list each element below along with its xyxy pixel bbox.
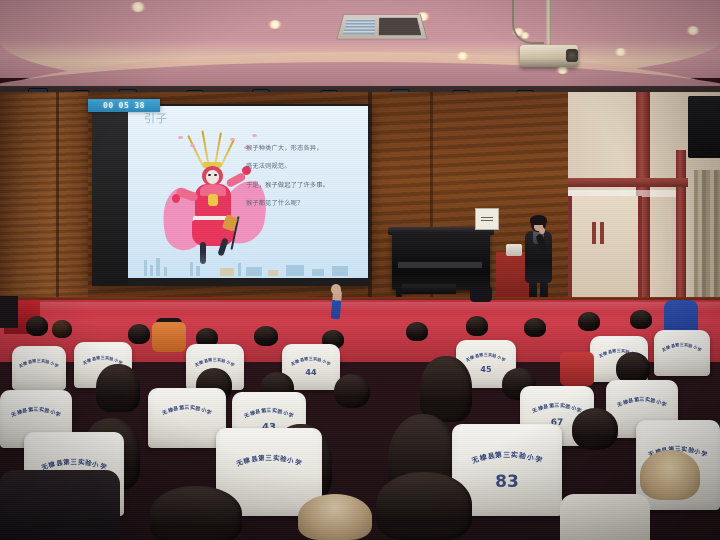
seat-number: 44 (305, 368, 316, 377)
student-head (524, 318, 546, 337)
petal (252, 134, 257, 137)
seat-school-name: 无棣县第三实验小学 (617, 396, 667, 403)
timer-hours: 00 (103, 101, 114, 110)
seat-back: 无棣县第三实验小学 (654, 330, 710, 376)
student-head (578, 312, 600, 331)
timer-minutes: 05 (119, 101, 130, 110)
seat-school-name: 无棣县第三实验小学 (83, 355, 123, 361)
slide-skyline-decoration (128, 252, 368, 278)
student-head (96, 364, 140, 412)
student-orange-coat (152, 322, 186, 352)
skyline-shape (164, 267, 167, 276)
seat-back: 无棣县第三实验小学 (12, 346, 66, 390)
side-door[interactable] (566, 196, 642, 306)
fur-hood-coat (298, 494, 372, 540)
seat-school-name: 无棣县第三实验小学 (19, 358, 59, 364)
fur-hood-coat (640, 450, 700, 500)
projector-lens-icon (566, 49, 578, 62)
student-head (376, 472, 472, 540)
ac-vent-intake (379, 18, 421, 35)
downlight (130, 2, 146, 12)
skyline-shape (238, 263, 241, 276)
door-handle[interactable] (600, 222, 604, 244)
student-head (254, 326, 278, 346)
sign-text-lines (481, 215, 493, 221)
petal (190, 144, 195, 147)
chest-emblem (208, 194, 218, 206)
skyline-shape (286, 265, 304, 276)
door-handle[interactable] (592, 222, 596, 244)
seat-school-name: 无棣县第三实验小学 (41, 456, 107, 466)
ac-vent-grill (343, 19, 375, 35)
lectern-papers (506, 244, 522, 256)
skyline-shape (332, 266, 348, 276)
skyline-shape (190, 262, 193, 276)
ceiling-ac-vent (336, 14, 428, 39)
student-head (466, 316, 488, 336)
wall-seam (56, 92, 59, 310)
timer-overlay: 00 05 38 (88, 99, 160, 112)
seat-school-name: 无棣县第三实验小学 (472, 450, 542, 460)
student-head (128, 324, 150, 344)
student-head (150, 486, 242, 540)
projector-mount (546, 0, 551, 46)
face (206, 170, 219, 184)
teacher-presenter (522, 216, 556, 302)
slide-line: 毫无法则规范。 (246, 160, 362, 173)
downlight (614, 48, 627, 56)
piano-bench (402, 284, 456, 294)
teacher-hand (539, 227, 545, 234)
student-coat (0, 470, 120, 540)
student-head (334, 374, 370, 408)
timer-seconds: 38 (134, 101, 145, 110)
hand-left (172, 194, 180, 203)
skyline-shape (144, 260, 147, 276)
slide-line: 猴子都见了什么呢？ (246, 197, 362, 210)
presentation-slide: 引子 (128, 106, 368, 278)
seat-school-name: 无棣县第三实验小学 (466, 352, 506, 358)
slide-title: 引子 (144, 110, 168, 126)
student-head (52, 320, 72, 338)
student-head (630, 310, 652, 329)
wall-speaker (688, 96, 720, 158)
skyline-shape (196, 266, 200, 276)
seat-school-name: 无棣县第三实验小学 (291, 356, 331, 362)
student-coat (560, 494, 650, 540)
student-head (406, 322, 428, 341)
seat-school-name: 无棣县第三实验小学 (162, 404, 212, 411)
downlight (268, 20, 282, 29)
downlight (456, 52, 469, 60)
auditorium-photo: 引子 (0, 0, 720, 540)
wall-notice-sign (475, 208, 499, 230)
skyline-shape (156, 258, 160, 276)
student-red-coat (560, 352, 594, 386)
seat-school-name: 无棣县第三实验小学 (532, 402, 582, 409)
seat-school-name: 无棣县第三实验小学 (244, 407, 294, 414)
upright-piano (392, 232, 490, 290)
skyline-shape (220, 268, 234, 276)
skyline-shape (150, 265, 153, 276)
feather-icon (220, 139, 235, 167)
left-wood-wall (0, 92, 92, 310)
skyline-shape (246, 267, 262, 276)
screen-letterbox (92, 104, 128, 286)
skyline-shape (312, 269, 324, 276)
raised-hand-palm (331, 284, 341, 294)
slide-line: 猴子种类广大，形态各异， (246, 142, 362, 155)
slide-body-text: 猴子种类广大，形态各异， 毫无法则规范。 于是，猴子做起了了许多事。 猴子都见了… (246, 142, 362, 215)
projector-cable (512, 0, 544, 44)
slide-line: 于是，猴子做起了了许多事。 (246, 179, 362, 192)
wall-rail (556, 178, 688, 187)
eye (208, 174, 211, 176)
seat-back: 无棣县第三实验小学 (148, 388, 226, 448)
petal (178, 136, 183, 139)
seat-school-name: 无棣县第三实验小学 (236, 452, 302, 462)
seat-number: 83 (495, 472, 519, 492)
seat-number: 45 (480, 365, 491, 374)
window-curtain (694, 170, 720, 310)
student-head (26, 316, 48, 336)
skyline-shape (268, 270, 278, 276)
student-head (420, 356, 472, 422)
seat-school-name: 无棣县第三实验小学 (11, 406, 61, 413)
student-head (572, 408, 618, 450)
downlight (556, 66, 569, 74)
wall-post (676, 150, 686, 306)
eye (214, 174, 217, 176)
teacher-hair (530, 215, 547, 225)
petal (230, 138, 235, 141)
feather-icon (187, 135, 204, 166)
piano-keyboard (398, 262, 482, 268)
downlight (686, 26, 700, 35)
seat-school-name: 无棣县第三实验小学 (195, 357, 235, 363)
seat-school-name: 无棣县第三实验小学 (662, 342, 702, 348)
stage-bag (470, 286, 492, 302)
